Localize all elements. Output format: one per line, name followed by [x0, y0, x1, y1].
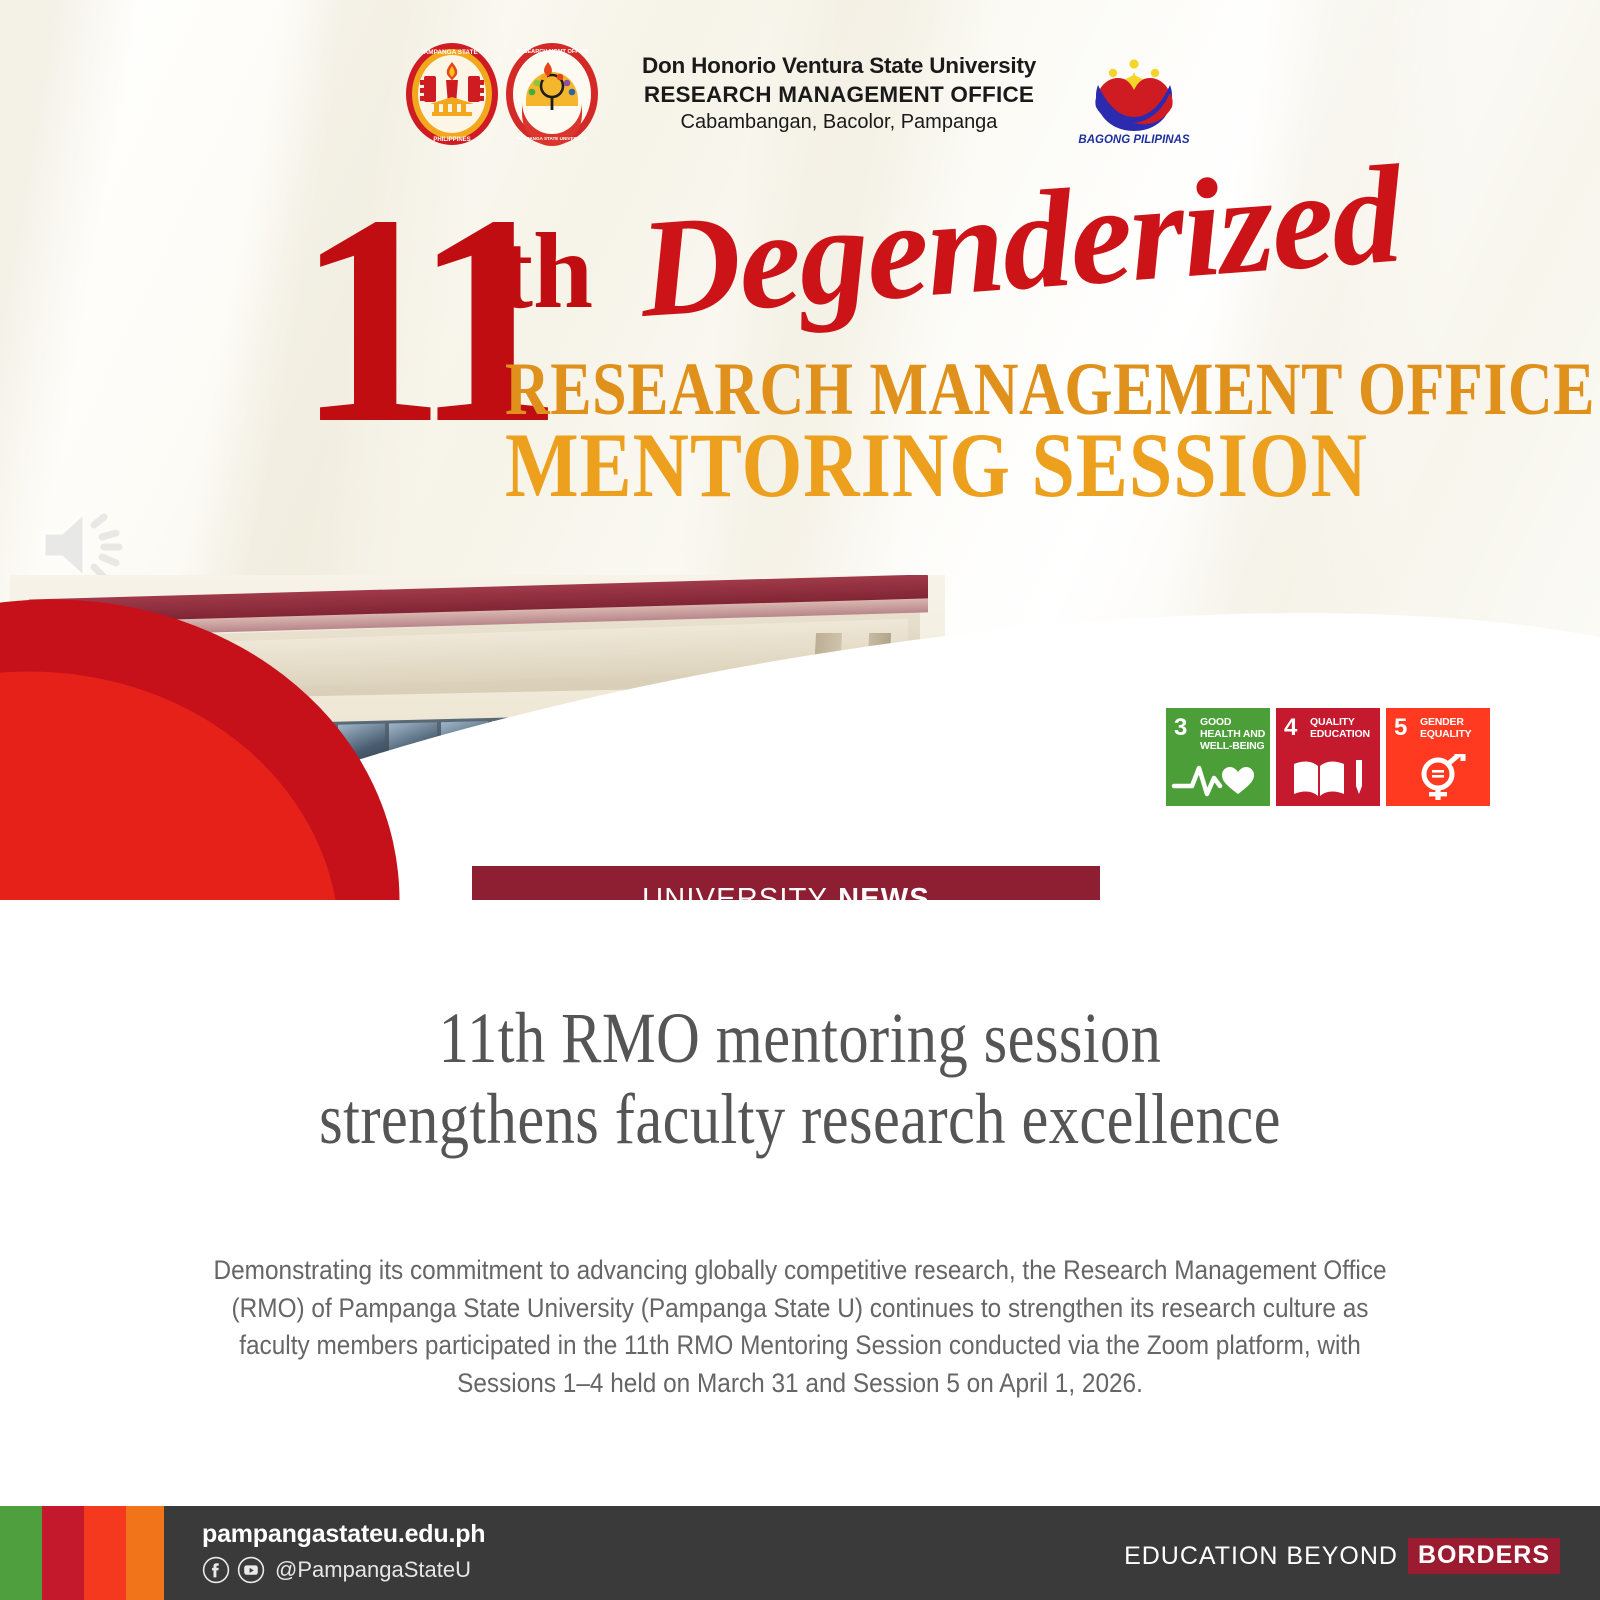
bagong-pilipinas-label: BAGONG PILIPINAS: [1078, 134, 1190, 146]
youtube-icon[interactable]: [237, 1556, 265, 1584]
footer-contact-block: pampangastateu.edu.ph @PampangaStateU: [202, 1520, 485, 1584]
title-ordinal: th: [497, 218, 593, 326]
stripe-orange: [126, 1506, 164, 1600]
university-news-banner: UNIVERSITY NEWS: [472, 866, 1100, 900]
gender-equality-icon: [1386, 754, 1490, 800]
heartbeat-icon: [1166, 754, 1270, 800]
footer-slogan: EDUCATION BEYOND BORDERS: [1124, 1538, 1560, 1574]
facebook-icon[interactable]: [202, 1556, 230, 1584]
sdg-label: QUALITY EDUCATION: [1310, 717, 1376, 741]
stripe-crimson: [42, 1506, 84, 1600]
page-footer: pampangastateu.edu.ph @PampangaStateU ED…: [0, 1506, 1600, 1600]
sdg-number: 4: [1284, 716, 1297, 740]
article-section: 11th RMO mentoring session strengthens f…: [0, 900, 1600, 1500]
article-body: Demonstrating its commitment to advancin…: [202, 1252, 1398, 1403]
footer-handle[interactable]: @PampangaStateU: [275, 1557, 471, 1583]
open-book-pencil-icon: [1276, 754, 1380, 800]
seal-right-ring-top: RESEARCH MGMT OFFICE: [516, 49, 588, 55]
sdg-number: 5: [1394, 716, 1407, 740]
poster-header: PAMPANGA STATE U PHILIPPINES: [0, 34, 1600, 154]
footer-social-row: @PampangaStateU: [202, 1556, 485, 1584]
sdg-label: GOOD HEALTH AND WELL-BEING: [1200, 717, 1266, 752]
university-name: Don Honorio Ventura State University: [642, 52, 1036, 81]
sdg-label: GENDER EQUALITY: [1420, 717, 1486, 741]
research-management-office-seal: RESEARCH MGMT OFFICE PAMPANGA STATE UNIV…: [502, 40, 602, 148]
slogan-bold-badge: BORDERS: [1408, 1538, 1560, 1574]
footer-color-stripes: [0, 1506, 164, 1600]
seal-left-ring-top: PAMPANGA STATE U: [420, 49, 485, 56]
news-banner-prefix: UNIVERSITY: [642, 883, 828, 901]
office-address-block: Don Honorio Ventura State University RES…: [642, 52, 1036, 135]
bagong-pilipinas-logo: BAGONG PILIPINAS: [1070, 39, 1198, 149]
sdg-number: 3: [1174, 716, 1187, 740]
pampanga-state-university-seal: PAMPANGA STATE U PHILIPPINES: [402, 40, 502, 148]
stripe-green: [0, 1506, 42, 1600]
news-banner-bold: NEWS: [838, 883, 930, 901]
seal-right-ring-bottom: PAMPANGA STATE UNIVERSITY: [517, 136, 587, 141]
sdg-badges: 3 GOOD HEALTH AND WELL-BEING 4 QUALITY E…: [1166, 708, 1490, 806]
stripe-red: [84, 1506, 126, 1600]
slogan-light-text: EDUCATION BEYOND: [1124, 1542, 1398, 1571]
office-address: Cabambangan, Bacolor, Pampanga: [642, 110, 1036, 136]
sdg-badge-5: 5 GENDER EQUALITY: [1386, 708, 1490, 806]
title-script-word: Degenderized: [635, 145, 1405, 340]
seal-left-ring-bottom: PHILIPPINES: [433, 137, 470, 143]
page-title: 11th RMO mentoring session strengthens f…: [296, 998, 1304, 1161]
office-name: RESEARCH MANAGEMENT OFFICE: [642, 81, 1036, 110]
sdg-badge-4: 4 QUALITY EDUCATION: [1276, 708, 1380, 806]
poster-image: PAMPANGA STATE U PHILIPPINES: [0, 0, 1600, 900]
sdg-badge-3: 3 GOOD HEALTH AND WELL-BEING: [1166, 708, 1270, 806]
footer-website[interactable]: pampangastateu.edu.ph: [202, 1520, 485, 1549]
